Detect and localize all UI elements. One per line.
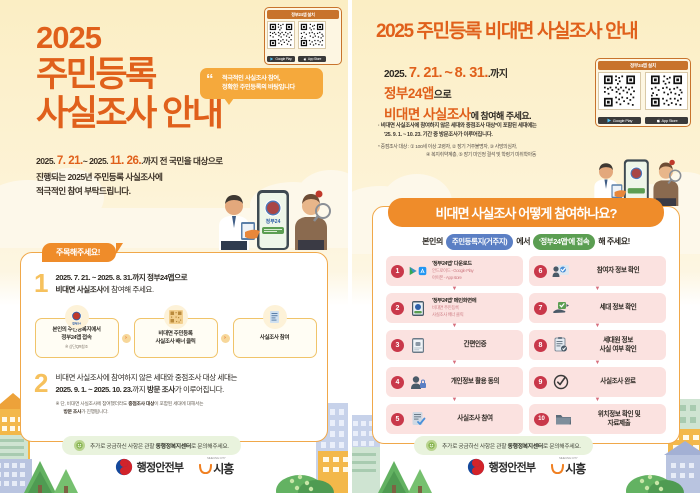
right-notes-block: · 비대면 사실조사에 참여하지 않은 세대와 중점조사 대상*이 포함된 세대… (378, 122, 668, 161)
pill-residence: 주민등록지(거주지) (446, 234, 513, 250)
rd-l3b: 에 참여해 주세요. (471, 111, 531, 121)
note-bullet2-l1: * 중점조사 대상 : ① 100세 이상 고령자, ② 장기 거주불명자, ③… (378, 144, 668, 153)
sub-pre: 본인의 (422, 236, 443, 247)
rd-l3a: 비대면 사실조사 (384, 107, 471, 122)
step1-sub2: 아이폰 - App store (432, 275, 518, 281)
person-officer-icon (219, 195, 255, 250)
inq-pre: 추가로 궁금하신 사항은 관할 (442, 444, 508, 450)
qr-code-icon (298, 21, 326, 49)
step-arrow-icon: ▼ (529, 323, 666, 330)
google-play-icon (270, 57, 274, 61)
step2-line1: 비대면 사실조사에 참여하지 않은 세대와 중점조사 대상 세대는 (55, 372, 317, 384)
flow2-l2: 사실조사 배너 클릭 (155, 338, 195, 346)
steps-column-left: 1 '정부24앱' 다운로드 안드로이드 - Google Play 아이폰 -… (386, 256, 523, 434)
step1-l2b: 에 참여해 주세요. (103, 285, 154, 294)
step2-sub2: 사실조사 배너 클릭 (432, 312, 518, 318)
step-badge: 7 (534, 302, 547, 315)
note-bullet2-l2: ④ 복지취약계층, ⑤ 장기 미인정 결석 및 학령기 미취학아동 (378, 152, 668, 161)
qr-code-icon (598, 72, 641, 110)
flow3-l1: 사실조사 참여 (260, 334, 289, 342)
rd-l1b: 7. 21. (409, 65, 442, 81)
step-badge: 4 (391, 376, 404, 389)
step2-label: '정부24앱' 메인화면에 (432, 298, 476, 304)
apple-icon (303, 57, 307, 61)
qr-app-store[interactable]: App Store (298, 21, 326, 62)
right-inquiry-bar: 추가로 궁금하신 사항은 관할 동행정복지센터로 문의해주세요. (414, 436, 593, 455)
qr-code-icon (267, 21, 295, 49)
step2-l2b: 까지 (132, 385, 147, 394)
step-row-8[interactable]: 8 세대원 정보 사실 여부 확인 (529, 330, 666, 360)
step-badge: 6 (534, 265, 547, 278)
step2-note-d: 방문 조사 (63, 410, 81, 415)
gov24-phone-icon: 정부24 (257, 190, 289, 250)
step8-label: 세대원 정보 사실 여부 확인 (575, 336, 661, 354)
qr-install-box-left[interactable]: 정부24앱 설치 (264, 7, 342, 65)
google-play-icon (607, 118, 612, 123)
note-bullet1-l2: '25. 9. 1. ~ 10. 23. 기간 중 방문조사가 이루어집니다. (378, 131, 668, 140)
step1-date: 2025. 7. 21. ~ 2025. 8. 31. (55, 273, 132, 282)
step10-label: 위치정보 확인 및 자료제출 (577, 410, 661, 428)
step-row-6[interactable]: 6 참여자 정보 확인 (529, 256, 666, 286)
phone-banner-icon (409, 299, 427, 317)
flow2-l1: 비대면 주민등록 (158, 330, 192, 338)
step-badge: 5 (391, 413, 404, 426)
left-footer-logos: 행정안전부 SIHEUNG CITY 시흥 (0, 456, 348, 477)
flow1-l2: 정부24앱 접속 (61, 334, 91, 342)
speech-bubble: “ 적극적인 사실조사 참여, 정확한 주민등록의 바탕입니다 (200, 68, 323, 99)
qr-title: 정부24앱 설치 (598, 61, 688, 70)
lead-line2: 진행되는 2025년 주민등록 사실조사에 (36, 171, 326, 185)
step5-label: 사실조사 참여 (432, 414, 518, 423)
headline-line1: 주민등록 (36, 55, 221, 94)
location-submit-icon (554, 410, 572, 428)
qr-install-box-right[interactable]: 정부24앱 설치 (595, 58, 691, 127)
step-row-9[interactable]: 9 사실조사 완료 (529, 367, 666, 397)
survey-participate-icon (409, 410, 427, 428)
step3-label: 간편인증 (432, 340, 518, 349)
smile-swoosh-icon (551, 463, 564, 474)
person-citizen-icon (653, 160, 680, 206)
qr-title: 정부24앱 설치 (267, 10, 339, 19)
ministry-logo: 행정안전부 (115, 458, 184, 476)
bush-group-icon (626, 475, 684, 493)
qr-app-store[interactable]: App Store (645, 72, 688, 124)
svg-text:정부24: 정부24 (266, 218, 281, 225)
flow-arrow-2-icon: › (221, 334, 230, 343)
inq-post: 로 문의해주세요. (543, 444, 581, 450)
step-badge: 1 (391, 265, 404, 278)
pill-gov24-access: '정부24앱'에 접속 (533, 234, 595, 250)
step2-note-c: 이 포함된 세대에 대해서는 (154, 402, 203, 407)
step2-note-a: ※ 단, 비대면 사실조사에 참여했더라도 (55, 402, 128, 407)
city-logo: SIHEUNG CITY 시흥 (551, 456, 585, 477)
inq-bold: 동행정복지센터 (156, 444, 191, 450)
step-row-1[interactable]: 1 '정부24앱' 다운로드 안드로이드 - Google Play 아이폰 -… (386, 256, 523, 286)
svg-text:정부24: 정부24 (72, 320, 81, 325)
lead-line3: 적극적인 참여 부탁드립니다. (36, 185, 326, 199)
step-arrow-icon: ▼ (386, 286, 523, 293)
step-row-4[interactable]: 4 개인정보 활용 동의 (386, 367, 523, 397)
rd-l1a: 2025. (384, 69, 407, 80)
flow-arrow-1-icon: › (122, 334, 131, 343)
city-logo-name: 시흥 (551, 460, 585, 477)
apple-icon (656, 118, 661, 123)
question-face-icon (426, 440, 437, 451)
smile-swoosh-icon (199, 463, 212, 474)
step-badge: 3 (391, 339, 404, 352)
rd-l2b: 으로 (434, 90, 451, 101)
left-lead-paragraph: 2025. 7. 21.~ 2025. 11. 26..까지 전 국민을 대상으… (36, 152, 326, 198)
participant-info-icon (552, 262, 570, 280)
bush-group-icon (276, 475, 334, 493)
bubble-line2: 정확한 주민등록의 바탕입니다 (222, 83, 315, 92)
lead-date1: 7. 21. (57, 155, 83, 167)
lead-tail: .까지 전 국민을 대상으로 (141, 156, 223, 166)
step2-l2d: 가 이루어집니다. (175, 385, 224, 394)
step-badge: 2 (391, 302, 404, 315)
ministry-name: 행정안전부 (137, 459, 184, 475)
step1-l2a: 비대면 사실조사 (55, 285, 102, 294)
step-row-3[interactable]: 3 간편인증 (386, 330, 523, 360)
left-flow-diagram: 정부24 본인의 주민등록지에서 정부24앱 접속 ※ 상단QR참조 › (38, 318, 313, 358)
question-face-icon (74, 440, 85, 451)
city-logo-name: 시흥 (199, 460, 233, 477)
lead-date2: 11. 26. (110, 155, 141, 167)
flow-step-3[interactable]: 사실조사 참여 (233, 318, 317, 358)
app-store-badges-icon (409, 262, 427, 280)
step1-l1b: 까지 (132, 273, 147, 282)
right-footer-logos: 행정안전부 SIHEUNG CITY 시흥 (352, 456, 700, 477)
left-step-2: 2 비대면 사실조사에 참여하지 않은 세대와 중점조사 대상 세대는 2025… (34, 372, 317, 417)
qr-code-icon (645, 72, 688, 110)
person-citizen-icon (295, 191, 330, 251)
taegeuk-icon (115, 458, 133, 476)
google-play-badge[interactable]: Google Play (267, 56, 295, 63)
left-headline-block: 2025 주민등록 사실조사 안내 (36, 22, 221, 133)
quote-mark-icon: “ (206, 75, 213, 86)
steps-column-right: 6 참여자 정보 확인 ▼ 7 세대 정보 확인 ▼ 8 (529, 256, 666, 434)
rd-l2a: 정부24앱 (384, 86, 434, 101)
step-arrow-icon: ▼ (386, 360, 523, 367)
app-store-badge[interactable]: App Store (298, 56, 326, 63)
step-arrow-icon: ▼ (529, 286, 666, 293)
step4-label: 개인정보 활용 동의 (432, 377, 518, 386)
survey-doc-icon (263, 305, 287, 329)
headline-year: 2025 (36, 22, 221, 53)
step-row-10[interactable]: 10 위치정보 확인 및 자료제출 (529, 404, 666, 434)
qr-google-play[interactable]: Google Play (598, 72, 641, 124)
step1-label: '정부24앱' 다운로드 (432, 261, 472, 267)
step2-note-e: 가 진행됩니다. (81, 410, 108, 415)
flow-step-1[interactable]: 정부24 본인의 주민등록지에서 정부24앱 접속 ※ 상단QR참조 (35, 318, 119, 358)
qr-google-play[interactable]: Google Play (267, 21, 295, 62)
rd-l1c: ~ (444, 65, 452, 81)
headline-line2: 사실조사 안내 (36, 94, 221, 133)
household-info-icon (552, 299, 570, 317)
qr-code-icon (164, 305, 188, 329)
step-row-2[interactable]: 2 '정부24앱' 메인화면에 비대면 주민등록 사실조사 배너 클릭 (386, 293, 523, 323)
flow1-sub: ※ 상단QR참조 (65, 344, 88, 350)
inq-post: 로 문의해주세요. (191, 444, 229, 450)
step9-label: 사실조사 완료 (575, 377, 661, 386)
gov24-emblem-icon: 정부24 (65, 305, 89, 329)
lead-seg1: 2025. (36, 156, 55, 166)
inq-bold: 동행정복지센터 (508, 444, 543, 450)
right-page-title: 2025 주민등록 비대면 사실조사 안내 (376, 22, 686, 43)
sub-post: 해 주세요! (598, 236, 630, 247)
left-step-1: 1 2025. 7. 21. ~ 2025. 8. 31.까지 정부24앱으로 … (34, 272, 310, 297)
ministry-logo: 행정안전부 (467, 458, 536, 476)
lead-seg2: 2025. (89, 156, 108, 166)
step-arrow-icon: ▼ (529, 360, 666, 367)
poster-container: 정부24앱 설치 (0, 0, 700, 493)
lead-tilde: ~ (83, 156, 88, 166)
right-date-block: 2025. 7. 21. ~ 8. 31..까지 정부24앱으로 비대면 사실조… (384, 62, 584, 126)
step2-date: 2025. 9. 1. ~ 2025. 10. 23. (55, 385, 132, 394)
step-1-number: 1 (34, 272, 47, 297)
member-verify-icon (552, 336, 570, 354)
rd-l1d: 8. 31. (455, 65, 488, 81)
step-arrow-icon: ▼ (386, 323, 523, 330)
privacy-consent-icon (409, 373, 427, 391)
step-arrow-icon: ▼ (529, 397, 666, 404)
left-inquiry-bar: 추가로 궁금하신 사항은 관할 동행정복지센터로 문의해주세요. (62, 436, 241, 455)
rd-l1e: .까지 (488, 69, 508, 80)
right-sub-instruction: 본인의 주민등록지(거주지) 에서 '정부24앱'에 접속 해 주세요! (372, 234, 680, 250)
card-tab-attention: 주목해주세요! (42, 243, 116, 262)
bubble-tail-icon (224, 98, 234, 105)
step2-visit: 방문 조사 (147, 385, 175, 394)
city-logo: SIHEUNG CITY 시흥 (199, 456, 233, 477)
google-play-badge[interactable]: Google Play (598, 117, 641, 125)
sub-mid: 에서 (516, 236, 530, 247)
step-badge: 8 (534, 339, 547, 352)
step-row-5[interactable]: 5 사실조사 참여 (386, 404, 523, 434)
flow-step-2[interactable]: 비대면 주민등록 사실조사 배너 클릭 (134, 318, 218, 358)
step6-label: 참여자 정보 확인 (575, 266, 661, 275)
phone-auth-icon (409, 336, 427, 354)
step1-app: 정부24앱 (147, 273, 174, 282)
app-store-badge[interactable]: App Store (645, 117, 688, 125)
ministry-name: 행정안전부 (489, 459, 536, 475)
step2-note-b: 중점조사 대상 (128, 402, 154, 407)
left-poster-panel: 정부24앱 설치 (0, 0, 348, 493)
step-arrow-icon: ▼ (386, 397, 523, 404)
step7-label: 세대 정보 확인 (575, 303, 661, 312)
check-complete-icon (552, 373, 570, 391)
step-badge: 9 (534, 376, 547, 389)
step-row-7[interactable]: 7 세대 정보 확인 (529, 293, 666, 323)
bubble-line1: 적극적인 사실조사 참여, (222, 74, 315, 83)
right-band-title: 비대면 사실조사 어떻게 참여하나요? (388, 198, 664, 227)
taegeuk-icon (467, 458, 485, 476)
step1-l1d: 으로 (174, 273, 187, 282)
right-poster-panel: 2025 주민등록 비대면 사실조사 안내 정부24앱 설치 (352, 0, 700, 493)
inq-pre: 추가로 궁금하신 사항은 관할 (90, 444, 156, 450)
step-badge: 10 (534, 413, 549, 426)
step-2-number: 2 (34, 372, 47, 417)
